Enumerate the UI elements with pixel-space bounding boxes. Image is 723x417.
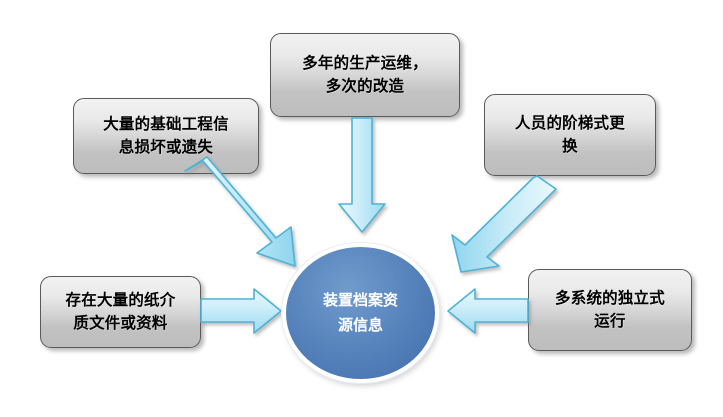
arrow-bottom-left-to-center: [201, 289, 281, 333]
arrow-bottom-right-to-center: [448, 289, 528, 333]
node-top-left: 大量的基础工程信 息损坏或遗失: [73, 98, 259, 174]
node-bottom-right: 多系统的独立式 运行: [528, 269, 692, 351]
arrow-top-center-to-center: [339, 118, 385, 232]
center-circle-text: 装置档案资 源信息: [323, 288, 398, 339]
node-top-right-line-2: 换: [515, 135, 625, 158]
node-top-center-line-1: 多年的生产运维，: [302, 52, 428, 75]
center-circle-line-2: 源信息: [323, 313, 398, 339]
node-bottom-right-line-2: 运行: [555, 310, 665, 333]
node-bottom-right-text: 多系统的独立式 运行: [555, 287, 665, 334]
center-circle-line-1: 装置档案资: [323, 288, 398, 314]
arrow-top-right-to-center: [452, 176, 556, 272]
node-bottom-right-line-1: 多系统的独立式: [555, 287, 665, 310]
node-top-right-text: 人员的阶梯式更 换: [515, 112, 625, 159]
node-top-right: 人员的阶梯式更 换: [484, 94, 656, 176]
node-bottom-left: 存在大量的纸介 质文件或资料: [40, 276, 201, 348]
node-top-left-line-2: 息损坏或遗失: [103, 136, 229, 159]
node-top-center-line-2: 多次的改造: [302, 75, 428, 98]
node-bottom-left-text: 存在大量的纸介 质文件或资料: [66, 289, 176, 336]
diagram-canvas: 装置档案资 源信息 多年的生产运维， 多次的改造 大量的基础工程信 息损坏或遗失…: [0, 0, 723, 417]
node-top-center-text: 多年的生产运维， 多次的改造: [302, 52, 428, 99]
node-top-center: 多年的生产运维， 多次的改造: [270, 33, 460, 117]
node-top-right-line-1: 人员的阶梯式更: [515, 112, 625, 135]
node-bottom-left-line-1: 存在大量的纸介: [66, 289, 176, 312]
node-top-left-text: 大量的基础工程信 息损坏或遗失: [103, 113, 229, 160]
center-circle-node: 装置档案资 源信息: [282, 243, 439, 383]
node-bottom-left-line-2: 质文件或资料: [66, 312, 176, 335]
node-top-left-line-1: 大量的基础工程信: [103, 113, 229, 136]
